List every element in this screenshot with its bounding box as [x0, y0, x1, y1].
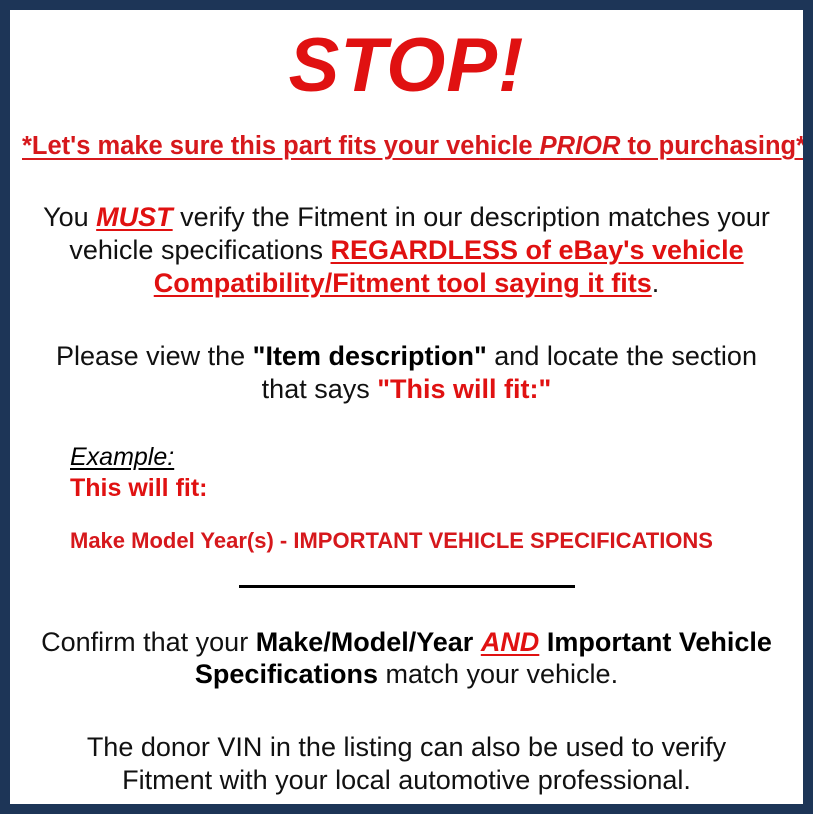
paragraph-donor-vin: The donor VIN in the listing can also be…: [22, 731, 791, 797]
example-block: Example: This will fit: Make Model Year(…: [22, 444, 791, 554]
example-fit-header: This will fit:: [70, 474, 791, 503]
this-will-fit-emphasis: "This will fit:": [377, 374, 551, 404]
divider-wrap: [22, 578, 791, 596]
tagline-emphasis-prior: PRIOR: [540, 132, 621, 160]
confirm-text-2: [473, 627, 481, 657]
fitment-notice-card: STOP! *Let's make sure this part fits yo…: [0, 0, 813, 814]
page-title: STOP!: [22, 28, 791, 104]
tagline: *Let's make sure this part fits your veh…: [22, 132, 791, 161]
must-text-3: .: [652, 268, 660, 298]
view-text-1: Please view the: [56, 341, 253, 371]
example-spec-line: Make Model Year(s) - IMPORTANT VEHICLE S…: [70, 528, 791, 553]
confirm-text-4: match your vehicle.: [378, 659, 618, 689]
must-text-1: You: [43, 202, 96, 232]
and-emphasis: AND: [481, 627, 540, 657]
example-label: Example:: [70, 444, 174, 472]
paragraph-confirm: Confirm that your Make/Model/Year AND Im…: [22, 626, 791, 692]
item-description-emphasis: "Item description": [253, 341, 487, 371]
tagline-part-1: *Let's make sure this part fits your veh…: [22, 132, 540, 160]
make-model-year-emphasis: Make/Model/Year: [256, 627, 474, 657]
notice-content: STOP! *Let's make sure this part fits yo…: [10, 28, 803, 814]
example-label-row: Example:: [70, 444, 791, 472]
confirm-text-3: [539, 627, 547, 657]
paragraph-must-verify: You MUST verify the Fitment in our descr…: [22, 201, 791, 300]
tagline-part-2: to purchasing*: [620, 132, 806, 160]
horizontal-rule-icon: [239, 585, 575, 588]
paragraph-item-description: Please view the "Item description" and l…: [22, 340, 791, 406]
confirm-text-1: Confirm that your: [41, 627, 256, 657]
must-emphasis: MUST: [96, 202, 173, 232]
